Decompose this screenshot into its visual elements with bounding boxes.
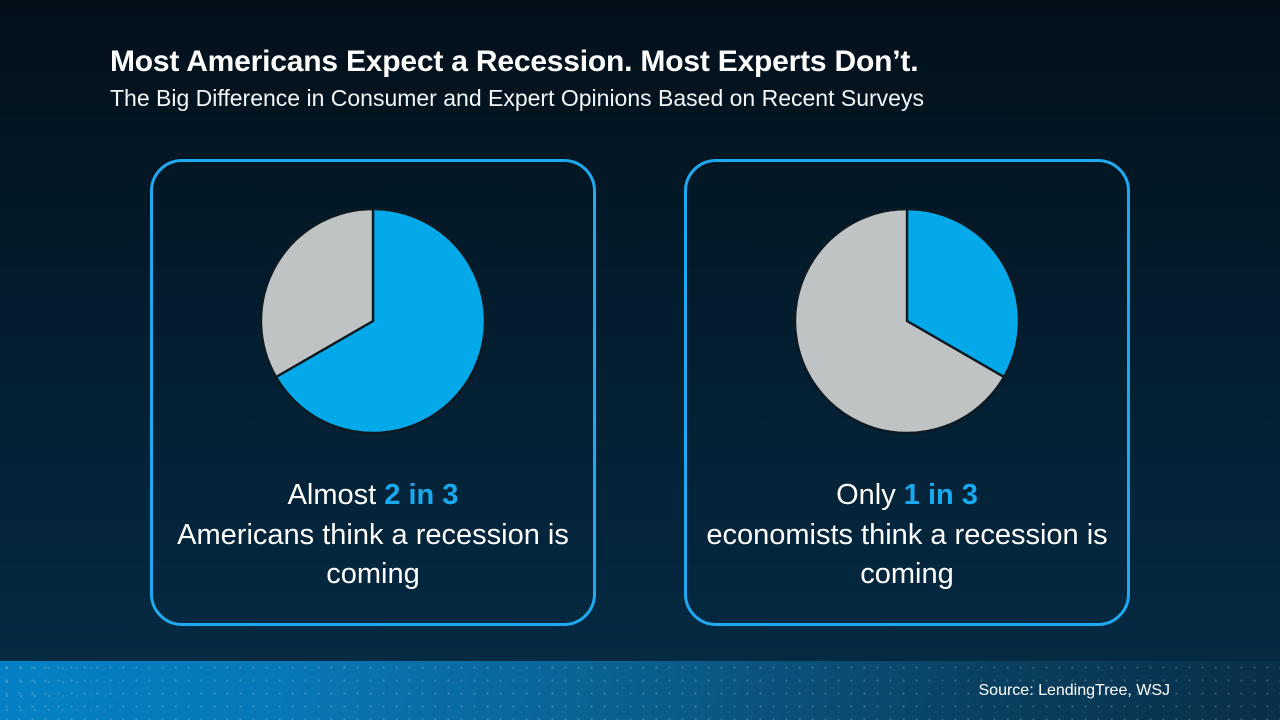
caption-stat-economists: 1 in 3 <box>904 479 978 511</box>
infographic-slide: Most Americans Expect a Recession. Most … <box>0 0 1280 720</box>
source-credit: Source: LendingTree, WSJ <box>979 682 1171 700</box>
card-caption-economists: Only 1 in 3 economists think a recession… <box>697 476 1117 595</box>
pie-chart-consumers <box>258 206 488 436</box>
header: Most Americans Expect a Recession. Most … <box>110 44 1190 113</box>
caption-tail-economists: economists think a recession is coming <box>706 519 1107 591</box>
caption-lead-consumers: Almost <box>288 479 385 511</box>
caption-stat-consumers: 2 in 3 <box>384 479 458 511</box>
pie-chart-economists <box>792 206 1022 436</box>
page-subtitle: The Big Difference in Consumer and Exper… <box>110 84 1190 113</box>
pie-chart-consumers-wrap <box>153 206 593 436</box>
footer-band: Source: LendingTree, WSJ <box>0 661 1280 720</box>
page-title: Most Americans Expect a Recession. Most … <box>110 44 1190 79</box>
card-economists: Only 1 in 3 economists think a recession… <box>684 159 1130 626</box>
card-caption-consumers: Almost 2 in 3 Americans think a recessio… <box>163 476 583 595</box>
caption-lead-economists: Only <box>836 479 904 511</box>
pie-chart-economists-wrap <box>687 206 1127 436</box>
card-consumers: Almost 2 in 3 Americans think a recessio… <box>150 159 596 626</box>
caption-tail-consumers: Americans think a recession is coming <box>177 519 569 591</box>
